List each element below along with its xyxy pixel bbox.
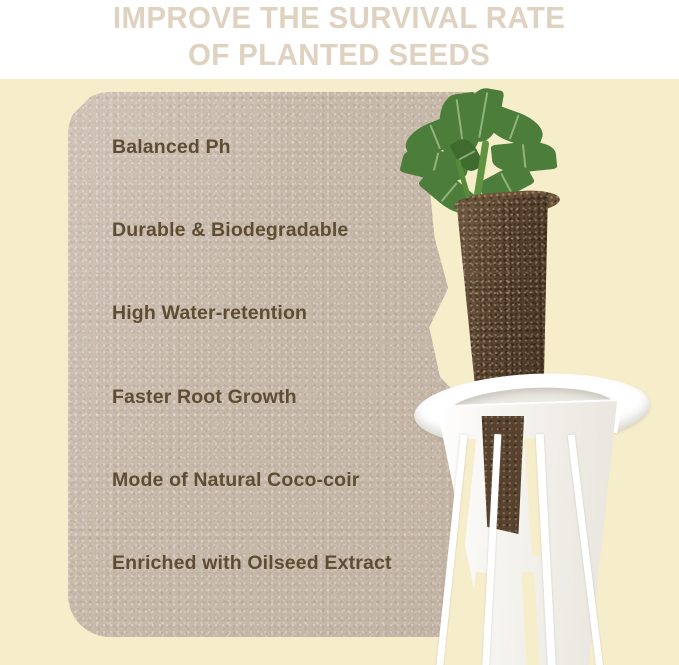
page-title-line-1: IMPROVE THE SURVIVAL RATE xyxy=(113,2,565,34)
seedling-in-coco-coir-plug-photo xyxy=(396,86,679,646)
page-title-line-2: OF PLANTED SEEDS xyxy=(188,39,490,71)
infographic-canvas: IMPROVE THE SURVIVAL RATE OF PLANTED SEE… xyxy=(0,0,679,665)
page-header: IMPROVE THE SURVIVAL RATE OF PLANTED SEE… xyxy=(0,0,679,79)
